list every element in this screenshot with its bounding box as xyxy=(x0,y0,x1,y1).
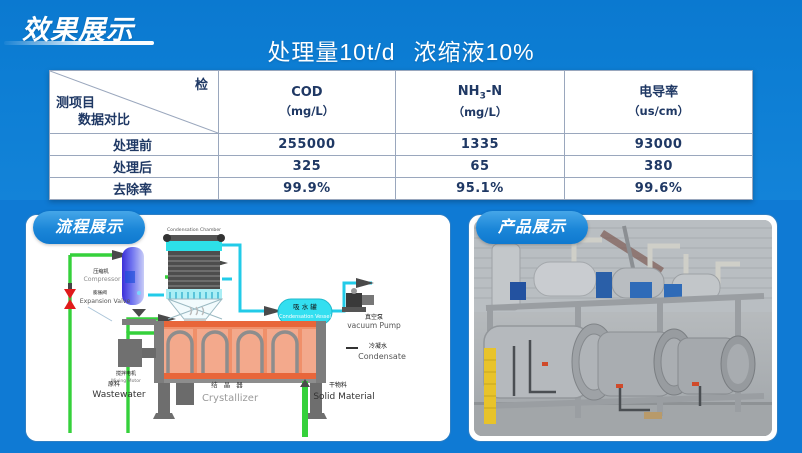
discharge-motor-icon xyxy=(176,383,194,405)
condenser-label-en: Condensation Chamber xyxy=(167,227,221,233)
column-header-cod-name: COD xyxy=(291,85,322,100)
column-header-nh3n: NH3-N （mg/L） xyxy=(395,71,564,134)
condensate-label-en: Condensate xyxy=(358,352,406,361)
table-header-row: 检 测项目 数据对比 COD （mg/L） NH3-N （mg/L） 电导率 xyxy=(50,71,753,134)
column-header-nh3n-unit: （mg/L） xyxy=(397,104,563,121)
row-label-after: 处理后 xyxy=(50,156,219,178)
vessel-label-en: Condensation Vessel xyxy=(279,314,331,320)
photo-section-badge: 产品展示 xyxy=(476,211,588,244)
vessel-label-cn: 吸 水 罐 xyxy=(293,302,317,311)
product-photo-svg xyxy=(474,220,772,436)
column-header-conductivity-name: 电导率 xyxy=(639,85,678,100)
flow-diagram-svg: 吸 水 罐 Condensation Vessel 真空泵 vacuum Pum… xyxy=(26,215,450,441)
condensate-label-cn: 冷凝水 xyxy=(369,342,387,350)
cell-before-cod: 255000 xyxy=(219,134,396,156)
corner-label-bottom: 数据对比 xyxy=(78,109,130,128)
table-body: 处理前 255000 1335 93000 处理后 325 65 380 去除率… xyxy=(50,134,753,200)
slide-root: 效果展示 处理量10t/d浓缩液10% 检 测项目 数据对比 COD xyxy=(0,0,802,453)
cell-after-cod: 325 xyxy=(219,156,396,178)
solid-material-label-en: Solid Material xyxy=(313,392,374,402)
row-label-removal-rate: 去除率 xyxy=(50,178,219,200)
flow-diagram-card: 吸 水 罐 Condensation Vessel 真空泵 vacuum Pum… xyxy=(25,214,451,442)
row-label-before: 处理前 xyxy=(50,134,219,156)
table-row: 处理后 325 65 380 xyxy=(50,156,753,178)
photo-safety-rail xyxy=(484,348,496,424)
vacuum-pump-label-en: vacuum Pump xyxy=(347,321,401,330)
wastewater-label-en: Wastewater xyxy=(92,390,146,400)
results-table-container: 检 测项目 数据对比 COD （mg/L） NH3-N （mg/L） 电导率 xyxy=(49,70,753,200)
table-row: 去除率 99.9% 95.1% 99.6% xyxy=(50,178,753,200)
cell-after-conductivity: 380 xyxy=(565,156,753,178)
mixing-motor-label-cn: 搅拌电机 xyxy=(116,370,136,377)
expansion-valve-label-en: Expansion Valve xyxy=(80,298,131,305)
compressor-label-cn: 压缩机 xyxy=(93,267,109,275)
table-head: 检 测项目 数据对比 COD （mg/L） NH3-N （mg/L） 电导率 xyxy=(50,71,753,134)
wastewater-label-cn: 原料 xyxy=(108,380,120,388)
photo-floor-block xyxy=(644,412,662,419)
table-row: 处理前 255000 1335 93000 xyxy=(50,134,753,156)
flow-section-badge: 流程展示 xyxy=(33,211,145,244)
results-table: 检 测项目 数据对比 COD （mg/L） NH3-N （mg/L） 电导率 xyxy=(49,70,753,200)
crystallizer-label-cn: 结 晶 器 xyxy=(211,380,245,389)
column-header-conductivity-unit: （us/cm） xyxy=(566,103,751,120)
cell-removal-conductivity: 99.6% xyxy=(565,178,753,200)
process-flow-diagram: 吸 水 罐 Condensation Vessel 真空泵 vacuum Pum… xyxy=(26,215,450,441)
product-photo-card xyxy=(468,214,778,442)
subtitle-concentrate: 浓缩液10% xyxy=(414,39,535,65)
column-header-nh3n-name: NH3-N xyxy=(458,84,502,99)
solid-material-label-cn: 干物料 xyxy=(329,381,347,389)
subtitle-throughput: 处理量10t/d xyxy=(267,39,395,65)
column-header-cod-unit: （mg/L） xyxy=(220,103,394,120)
corner-label-top-right: 检 xyxy=(195,74,208,93)
compressor-icon xyxy=(122,247,144,305)
page-subtitle: 处理量10t/d浓缩液10% xyxy=(0,33,802,67)
cell-removal-nh3n: 95.1% xyxy=(395,178,564,200)
cell-after-nh3n: 65 xyxy=(395,156,564,178)
compressor-label-en: Compressor xyxy=(83,276,121,283)
vacuum-pump-label-cn: 真空泵 xyxy=(365,313,383,321)
column-header-cod: COD （mg/L） xyxy=(219,71,396,134)
cell-removal-cod: 99.9% xyxy=(219,178,396,200)
cell-before-conductivity: 93000 xyxy=(565,134,753,156)
product-photo xyxy=(474,220,772,436)
expansion-valve-label-cn: 膨胀阀 xyxy=(93,289,107,296)
column-header-conductivity: 电导率 （us/cm） xyxy=(565,71,753,134)
cell-before-nh3n: 1335 xyxy=(395,134,564,156)
crystallizer-label-en: Crystallizer xyxy=(202,393,259,404)
table-corner-header: 检 测项目 数据对比 xyxy=(50,71,219,134)
